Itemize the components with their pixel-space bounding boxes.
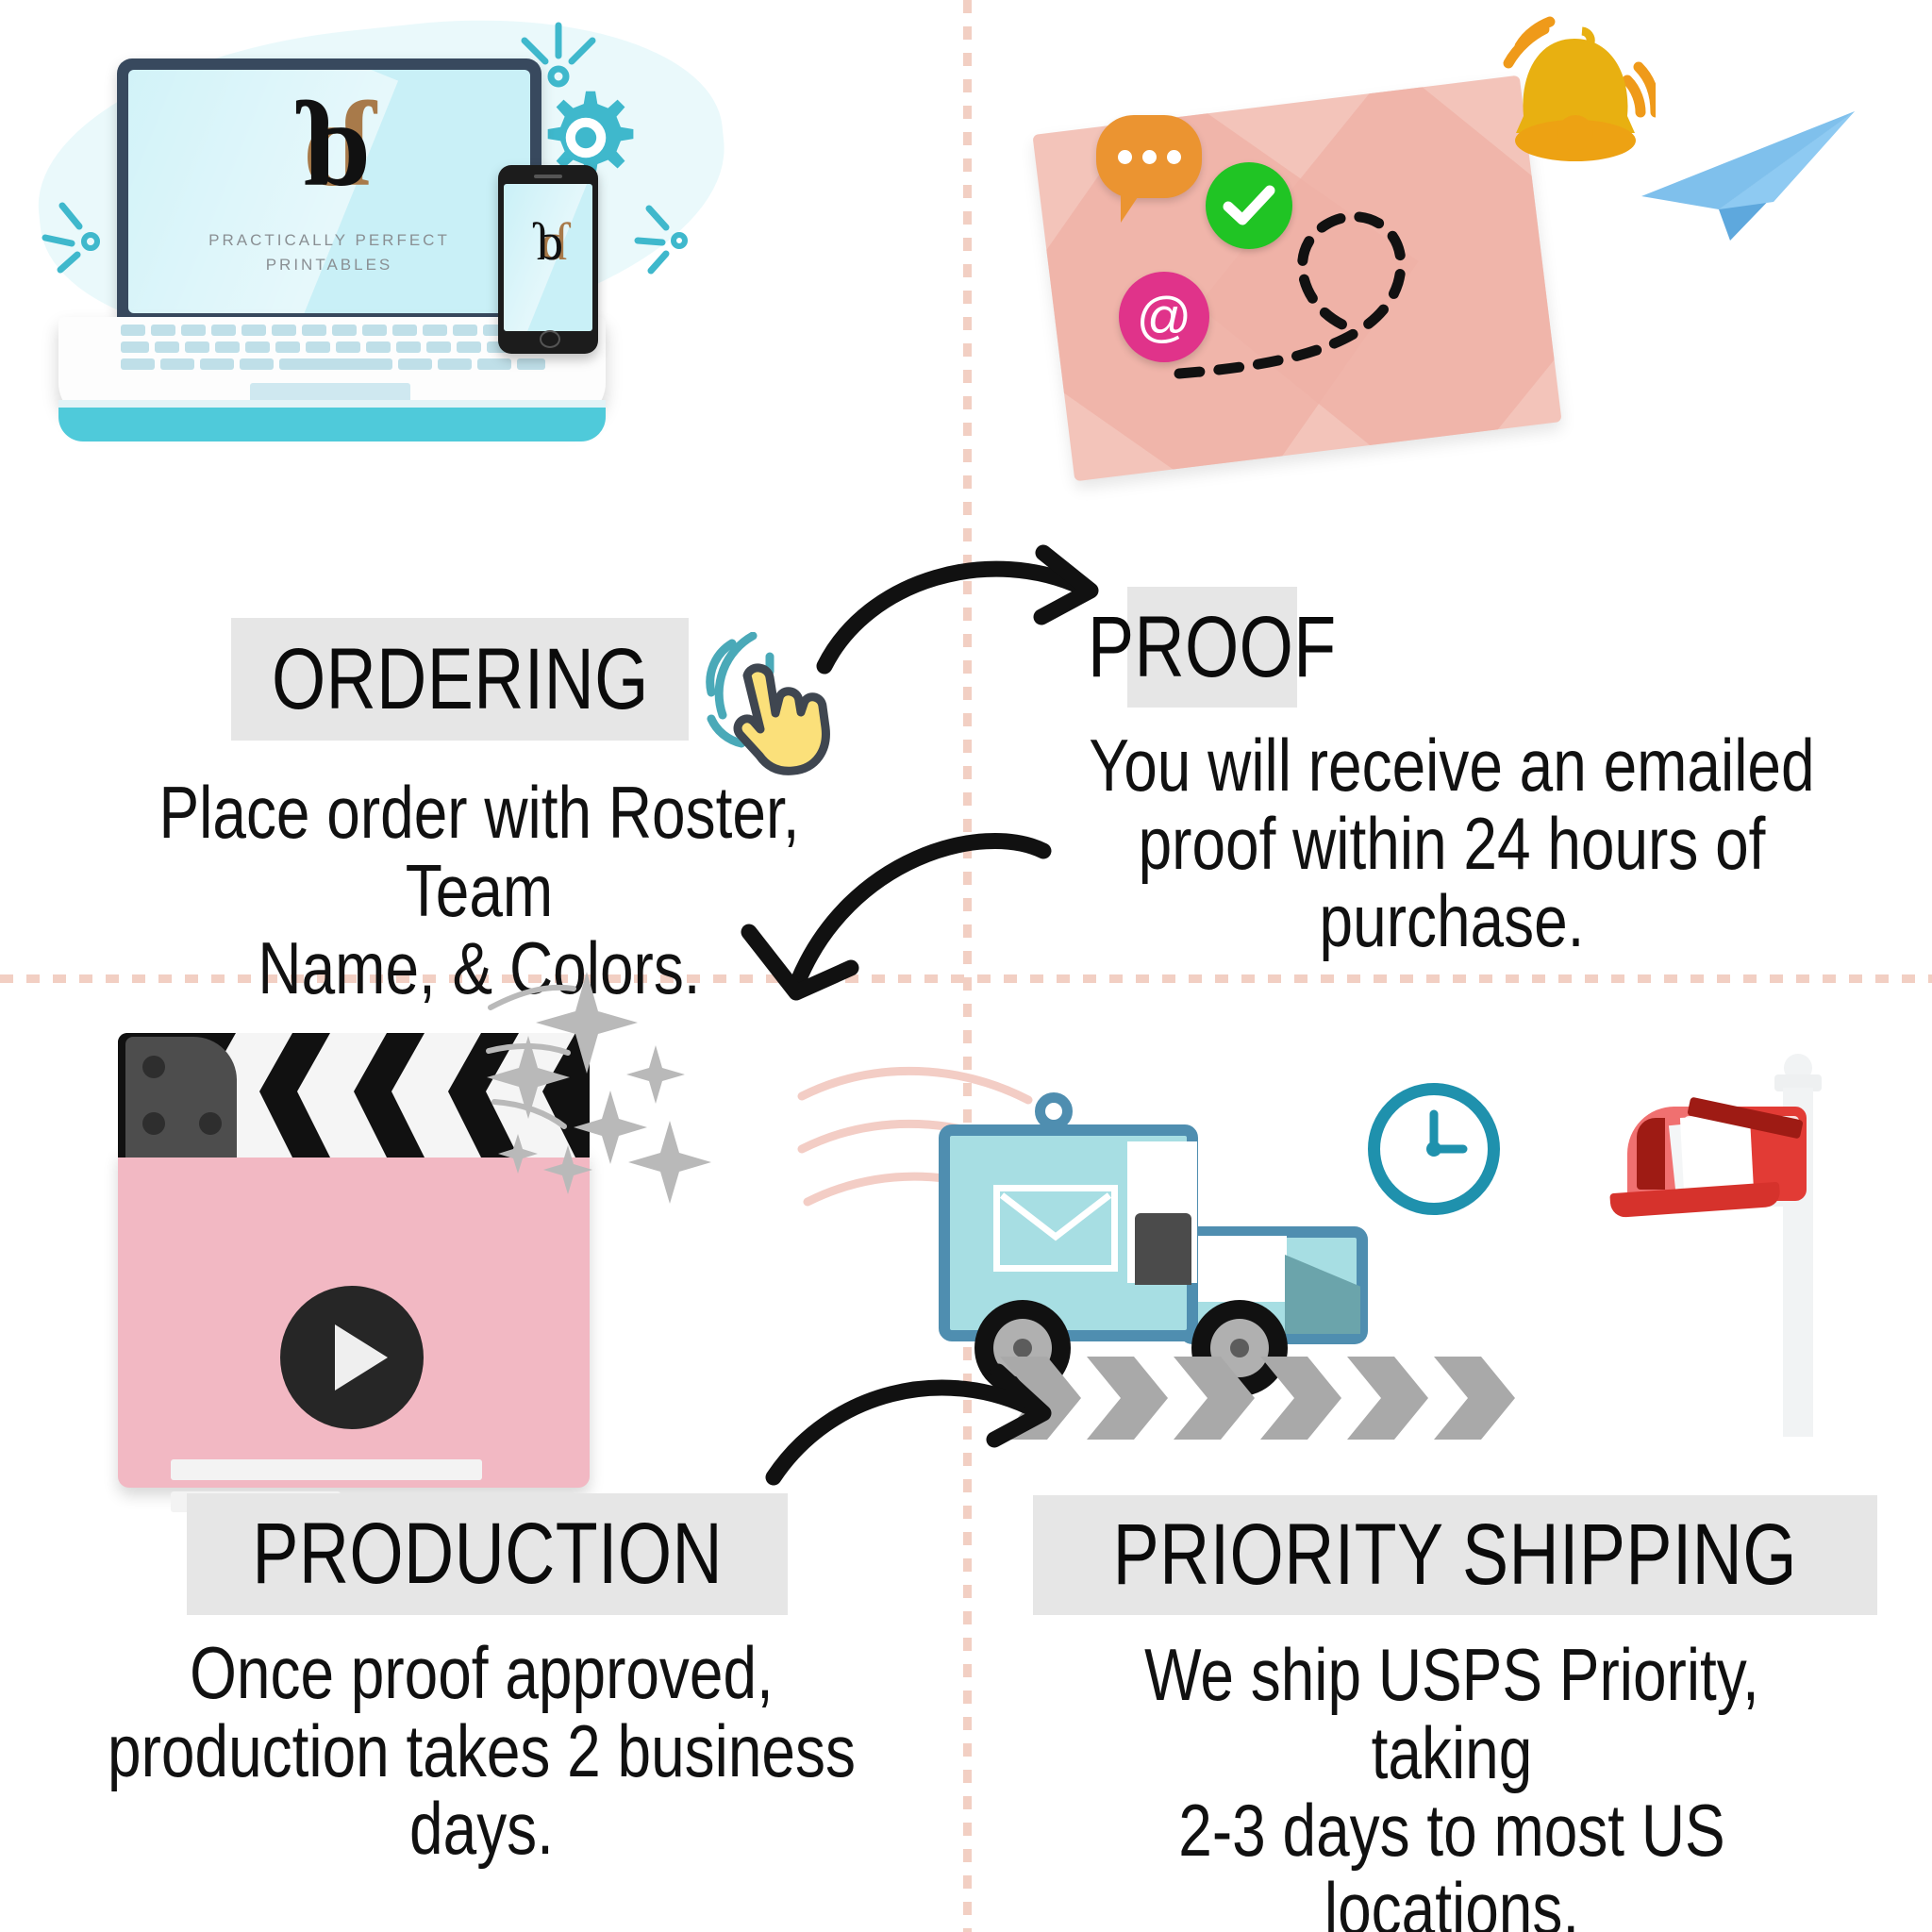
paper-plane-icon (1632, 104, 1868, 245)
check-circle-icon (1206, 162, 1292, 249)
step-body-priority-shipping: We ship USPS Priority, taking 2-3 days t… (972, 1636, 1932, 1932)
clapper-text-bar (171, 1459, 482, 1480)
clock-icon (1368, 1083, 1500, 1215)
phone-home-button (540, 330, 560, 348)
laptop-icon: ɗɗ PRACTICALLY PERFECT PRINTABLES (117, 58, 541, 321)
laptop-keyboard (121, 325, 545, 374)
sparkle-icon (630, 193, 715, 278)
brand-logo-monogram: ɗɗ (128, 96, 530, 192)
brand-name: PRACTICALLY PERFECT PRINTABLES (128, 228, 530, 276)
phone-speaker (534, 175, 562, 178)
at-badge-icon: @ (1119, 272, 1209, 362)
laptop-screen: ɗɗ PRACTICALLY PERFECT PRINTABLES (128, 70, 530, 313)
mailbox-icon (1590, 1054, 1873, 1431)
laptop-edge-teal (58, 408, 606, 441)
arrow-ordering-to-proof (811, 538, 1189, 726)
chat-bubble-icon (1096, 115, 1202, 198)
step-label-priority-shipping: PRIORITY SHIPPING (1033, 1495, 1877, 1615)
step-ordering: ɗɗ PRACTICALLY PERFECT PRINTABLES (0, 0, 963, 974)
truck-box (939, 1124, 1198, 1341)
envelope-icon (993, 1185, 1118, 1272)
step-body-production: Once proof approved, production takes 2 … (0, 1634, 963, 1868)
step-proof: @ PROOF You will receive a (972, 0, 1932, 974)
clapper-hinge (125, 1037, 237, 1158)
step-label-ordering: ORDERING (231, 618, 689, 741)
phone-screen: ɗɗ (504, 184, 592, 331)
arrow-production-to-shipping (764, 1349, 1123, 1566)
smartphone-icon: ɗɗ (498, 165, 598, 354)
arrow-proof-to-production (698, 830, 1075, 1066)
infographic-canvas: ɗɗ PRACTICALLY PERFECT PRINTABLES (0, 0, 1932, 1932)
step-body-proof: You will receive an emailed proof within… (972, 726, 1932, 960)
step-label-production: PRODUCTION (187, 1493, 788, 1615)
play-button-icon (280, 1286, 424, 1429)
dashed-flight-path (1141, 170, 1538, 387)
